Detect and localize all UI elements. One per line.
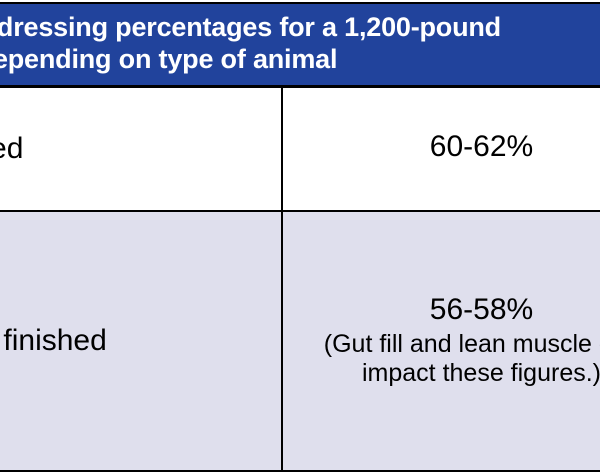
table-header-row: Typical dressing percentages for a 1,200… (0, 3, 600, 87)
table-title-line-1: Typical dressing percentages for a 1,200… (0, 12, 501, 42)
dressing-percentage-value: 56-58% (297, 292, 600, 328)
row-label-grain-fed: Grain fed (0, 87, 282, 212)
dressing-percentage-note: (Gut fill and lean muscle can impact the… (297, 330, 600, 388)
table-row: Grain fed 60-62% (0, 87, 600, 212)
row-value-forage-finished: 56-58% (Gut fill and lean muscle can imp… (282, 211, 600, 471)
table-container: Typical dressing percentages for a 1,200… (0, 2, 600, 472)
dressing-percentage-value: 60-62% (297, 129, 600, 165)
table-title-line-2: steer, depending on type of animal (0, 44, 337, 74)
note-line-1: (Gut fill and lean muscle can (297, 330, 600, 359)
row-label-forage-finished: Forage finished (0, 211, 282, 471)
row-value-grain-fed: 60-62% (282, 87, 600, 212)
table-row: Forage finished 56-58% (Gut fill and lea… (0, 211, 600, 471)
table-title-cell: Typical dressing percentages for a 1,200… (0, 3, 600, 87)
dressing-percentage-table: Typical dressing percentages for a 1,200… (0, 2, 600, 472)
note-line-2: impact these figures.) (297, 359, 600, 388)
